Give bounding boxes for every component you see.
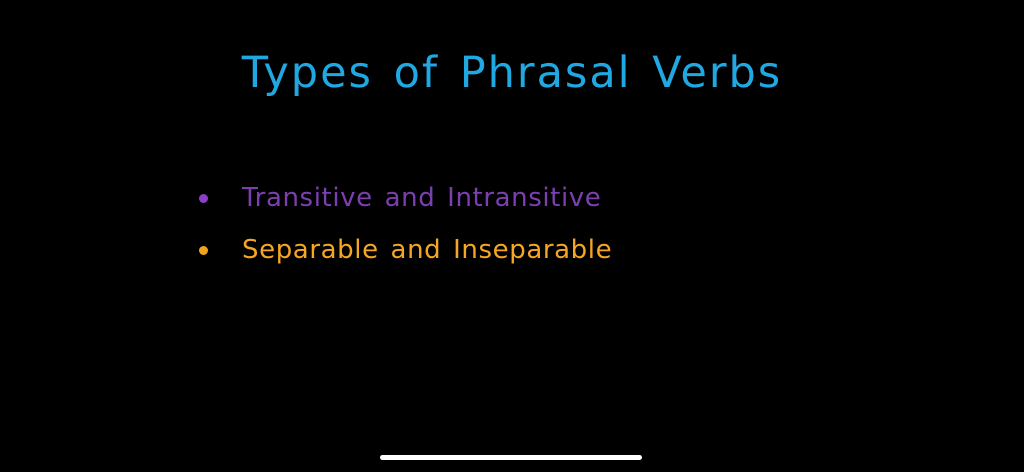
list-item: Separable and Inseparable	[199, 230, 612, 270]
bullet-list: Transitive and Intransitive Separable an…	[199, 178, 612, 282]
dot-icon	[199, 246, 208, 255]
list-item-label: Transitive and Intransitive	[242, 185, 601, 211]
list-item: Transitive and Intransitive	[199, 178, 612, 218]
list-item-label: Separable and Inseparable	[242, 237, 612, 263]
slide-title: Types of Phrasal Verbs	[0, 52, 1024, 95]
presentation-slide: Types of Phrasal Verbs Transitive and In…	[0, 0, 1024, 472]
home-indicator[interactable]	[380, 455, 642, 460]
dot-icon	[199, 194, 208, 203]
